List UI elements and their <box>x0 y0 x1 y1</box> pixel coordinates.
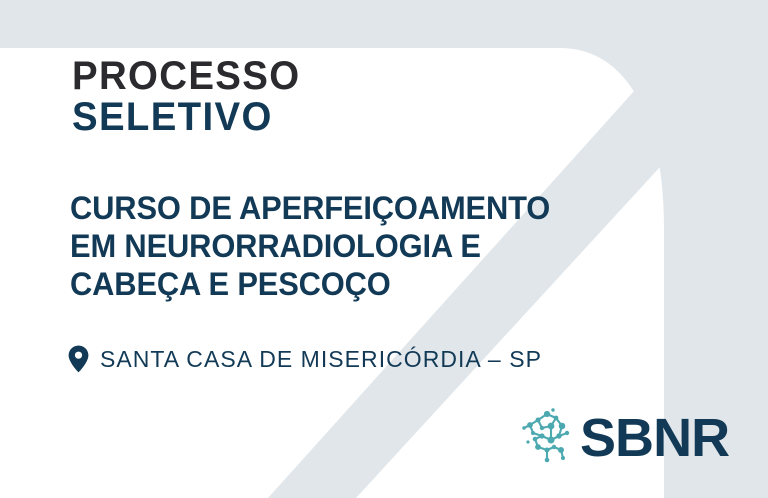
map-pin-icon <box>68 345 89 373</box>
banner-content: PROCESSO SELETIVO CURSO DE APERFEIÇOAMEN… <box>0 0 768 498</box>
kicker-line-seletivo: SELETIVO <box>72 99 300 136</box>
kicker-heading: PROCESSO SELETIVO <box>72 58 310 136</box>
kicker-line-processo: PROCESSO <box>72 58 300 95</box>
promo-banner: PROCESSO SELETIVO CURSO DE APERFEIÇOAMEN… <box>0 0 768 498</box>
brain-network-icon <box>518 406 576 470</box>
sbnr-logo: SBNR <box>518 406 729 470</box>
sbnr-wordmark: SBNR <box>580 411 729 465</box>
venue-line: SANTA CASA DE MISERICÓRDIA – SP <box>68 345 542 373</box>
course-title-line-2: EM NEURORRADIOLOGIA E <box>70 227 668 265</box>
course-title-line-3: CABEÇA E PESCOÇO <box>70 265 668 303</box>
venue-text: SANTA CASA DE MISERICÓRDIA – SP <box>100 346 542 373</box>
course-title-line-1: CURSO DE APERFEIÇOAMENTO <box>70 189 668 227</box>
course-title: CURSO DE APERFEIÇOAMENTO EM NEURORRADIOL… <box>70 189 690 303</box>
